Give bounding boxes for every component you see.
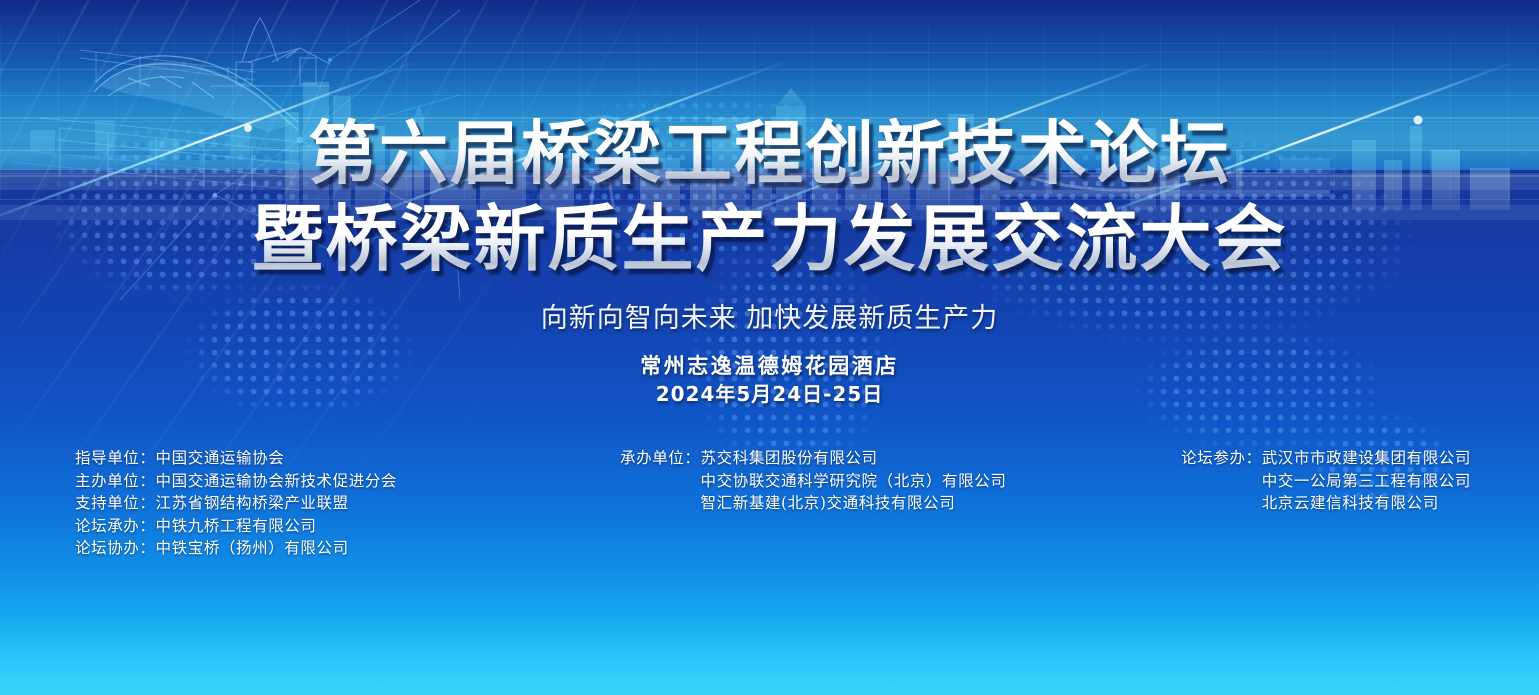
event-date: 2024年5月24日-25日 (0, 378, 1539, 407)
credit-row: 指导单位：中国交通运输协会 (75, 447, 397, 470)
credit-label: 论坛承办： (75, 517, 156, 535)
credits-section: 指导单位：中国交通运输协会 主办单位：中国交通运输协会新技术促进分会 支持单位：… (0, 447, 1539, 577)
credit-value: 中铁九桥工程有限公司 (156, 517, 317, 535)
credit-label: 支持单位： (75, 494, 156, 512)
credit-value: 中交协联交通科学研究院（北京）有限公司 (701, 472, 1007, 490)
credit-row: 支持单位：江苏省钢结构桥梁产业联盟 (75, 492, 397, 515)
credit-label: 承办单位： (620, 449, 701, 467)
credit-value: 北京云建信科技有限公司 (1262, 494, 1439, 512)
credit-row: 论坛参办：北京云建信科技有限公司 (1181, 492, 1471, 515)
credit-row: 论坛承办：中铁九桥工程有限公司 (75, 515, 397, 538)
credits-column-left: 指导单位：中国交通运输协会 主办单位：中国交通运输协会新技术促进分会 支持单位：… (75, 447, 397, 560)
credit-value: 中国交通运输协会新技术促进分会 (156, 472, 398, 490)
credit-row: 论坛参办：中交一公局第三工程有限公司 (1181, 470, 1471, 493)
credit-value: 武汉市市政建设集团有限公司 (1262, 449, 1471, 467)
credit-value: 智汇新基建(北京)交通科技有限公司 (701, 494, 956, 512)
credit-row: 主办单位：中国交通运输协会新技术促进分会 (75, 470, 397, 493)
credit-value: 中铁宝桥（扬州）有限公司 (156, 539, 349, 557)
credits-column-middle: 承办单位：苏交科集团股份有限公司 承办单位：中交协联交通科学研究院（北京）有限公… (620, 447, 1006, 515)
title-line-2: 暨桥梁新质生产力发展交流大会 (0, 196, 1539, 282)
credits-column-right: 论坛参办：武汉市市政建设集团有限公司 论坛参办：中交一公局第三工程有限公司 论坛… (1181, 447, 1471, 515)
credit-label: 论坛协办： (75, 539, 156, 557)
credit-row: 论坛协办：中铁宝桥（扬州）有限公司 (75, 537, 397, 560)
banner-content: 第六届桥梁工程创新技术论坛 暨桥梁新质生产力发展交流大会 向新向智向未来 加快发… (0, 0, 1539, 695)
subtitle: 向新向智向未来 加快发展新质生产力 (0, 296, 1539, 335)
credit-row: 承办单位：智汇新基建(北京)交通科技有限公司 (620, 492, 1006, 515)
title-block: 第六届桥梁工程创新技术论坛 暨桥梁新质生产力发展交流大会 (0, 112, 1539, 282)
credit-label: 指导单位： (75, 449, 156, 467)
credit-row: 承办单位：中交协联交通科学研究院（北京）有限公司 (620, 470, 1006, 493)
title-line-1: 第六届桥梁工程创新技术论坛 (0, 112, 1539, 196)
credit-label: 主办单位： (75, 472, 156, 490)
credit-value: 中国交通运输协会 (156, 449, 285, 467)
credit-row: 承办单位：苏交科集团股份有限公司 (620, 447, 1006, 470)
credit-value: 江苏省钢结构桥梁产业联盟 (156, 494, 349, 512)
credit-value: 中交一公局第三工程有限公司 (1262, 472, 1471, 490)
credit-row: 论坛参办：武汉市市政建设集团有限公司 (1181, 447, 1471, 470)
conference-banner: 第六届桥梁工程创新技术论坛 暨桥梁新质生产力发展交流大会 向新向智向未来 加快发… (0, 0, 1539, 695)
credit-value: 苏交科集团股份有限公司 (701, 449, 878, 467)
venue-name: 常州志逸温德姆花园酒店 (0, 350, 1539, 380)
credit-label: 论坛参办： (1181, 449, 1262, 467)
